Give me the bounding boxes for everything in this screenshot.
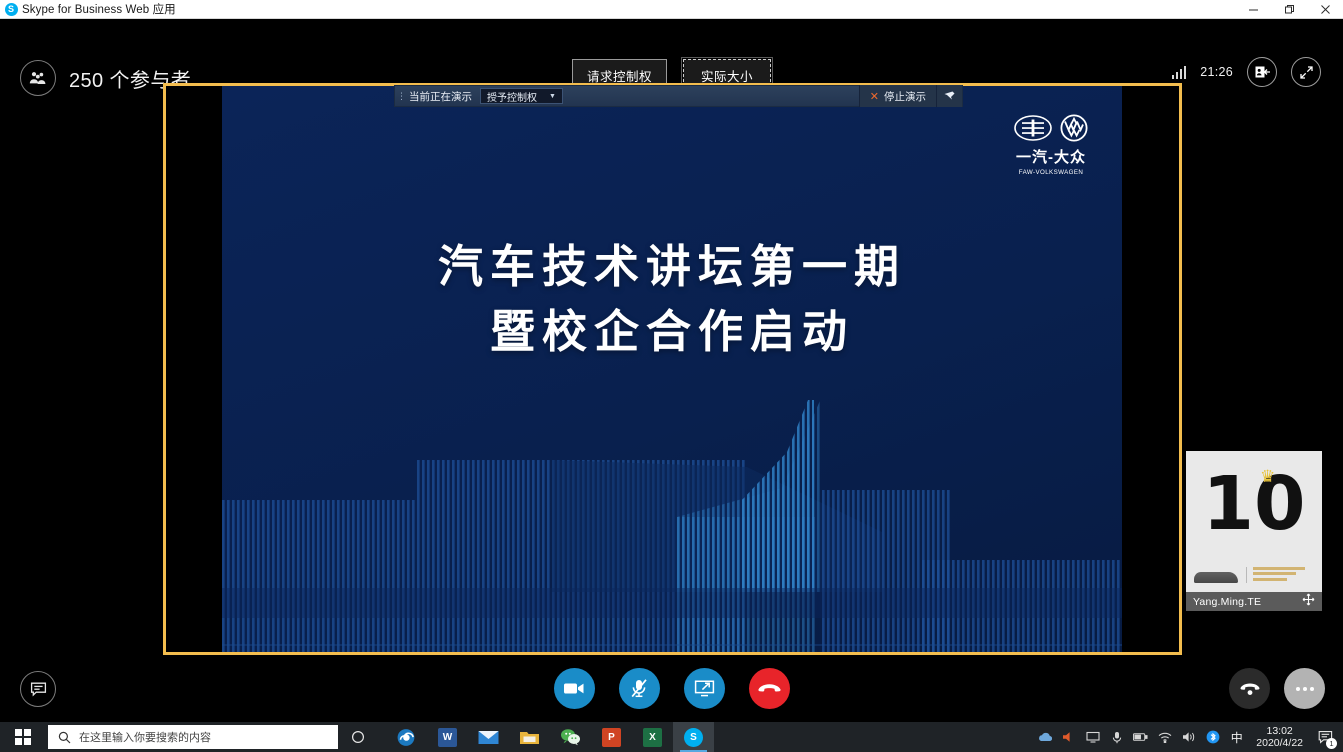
call-timer: 21:26 bbox=[1200, 65, 1233, 79]
app-cloud[interactable] bbox=[386, 722, 427, 752]
more-options-icon[interactable] bbox=[1284, 668, 1325, 709]
taskbar-clock[interactable]: 13:02 2020/4/22 bbox=[1256, 725, 1303, 749]
display-icon[interactable] bbox=[1085, 730, 1100, 745]
battery-icon[interactable] bbox=[1133, 730, 1148, 745]
notifications-icon[interactable]: 1 bbox=[1315, 727, 1335, 747]
windows-start-icon[interactable] bbox=[0, 722, 46, 752]
powerpoint-app-icon: P bbox=[602, 728, 621, 747]
folder-app-icon bbox=[519, 729, 540, 746]
task-view-icon[interactable] bbox=[338, 722, 378, 752]
crown-icon: ♛ bbox=[1260, 467, 1275, 487]
screen: S Skype for Business Web 应用 bbox=[0, 0, 1343, 752]
system-tray: 中 13:02 2020/4/22 1 bbox=[1037, 725, 1343, 749]
window-controls bbox=[1235, 0, 1343, 19]
window-title: Skype for Business Web 应用 bbox=[22, 1, 176, 17]
drag-grip-icon[interactable]: ⋮ bbox=[395, 91, 407, 102]
slide-title: 汽车技术讲坛第一期 暨校企合作启动 bbox=[222, 234, 1122, 365]
app-excel[interactable]: X bbox=[632, 722, 673, 752]
clock-date: 2020/4/22 bbox=[1256, 737, 1303, 749]
self-video-thumbnail[interactable]: 10 ♛ Yang.Ming.TE bbox=[1186, 451, 1322, 611]
cloud-app-icon bbox=[396, 728, 417, 747]
clock-time: 13:02 bbox=[1256, 725, 1303, 737]
microphone-muted-icon[interactable] bbox=[619, 668, 660, 709]
app-word[interactable]: W bbox=[427, 722, 468, 752]
ime-indicator[interactable]: 中 bbox=[1229, 730, 1244, 745]
car-silhouette-icon bbox=[1194, 572, 1238, 583]
thumbnail-footer-art bbox=[1194, 567, 1314, 584]
header-right-controls: 21:26 bbox=[1172, 57, 1321, 87]
thumbnail-image: 10 ♛ bbox=[1186, 451, 1322, 611]
faw-volkswagen-logo: 一汽-大众 FAW-VOLKSWAGEN bbox=[1008, 114, 1094, 176]
call-controls bbox=[0, 668, 1343, 709]
taskbar-apps: W bbox=[386, 722, 714, 752]
excel-app-icon: X bbox=[643, 728, 662, 747]
search-placeholder: 在这里输入你要搜索的内容 bbox=[79, 729, 211, 745]
ten-number-graphic: 10 bbox=[1186, 467, 1322, 541]
windows-taskbar: 在这里输入你要搜索的内容 W bbox=[0, 722, 1343, 752]
microphone-icon[interactable] bbox=[1109, 730, 1124, 745]
stop-presenting-button[interactable]: ✕ 停止演示 bbox=[859, 85, 936, 107]
wifi-icon[interactable] bbox=[1157, 730, 1172, 745]
hangup-phone-icon[interactable] bbox=[749, 668, 790, 709]
share-screen-icon[interactable] bbox=[684, 668, 725, 709]
bluetooth-icon[interactable] bbox=[1205, 730, 1220, 745]
restore-button[interactable] bbox=[1271, 0, 1307, 19]
onedrive-icon[interactable] bbox=[1037, 730, 1052, 745]
give-control-label: 授予控制权 bbox=[487, 89, 537, 104]
app-wechat[interactable] bbox=[550, 722, 591, 752]
mail-app-icon bbox=[478, 730, 499, 745]
presentation-toolbar: ⋮ 当前正在演示 授予控制权 ▼ ✕ 停止演示 bbox=[394, 85, 963, 107]
meeting-header: 250 个参与者 请求控制权 实际大小 21:26 bbox=[0, 19, 1343, 81]
vw-emblem-icon bbox=[1060, 114, 1088, 142]
speaker-icon[interactable] bbox=[1061, 730, 1076, 745]
logo-chinese-name: 一汽-大众 bbox=[1008, 146, 1094, 167]
stop-presenting-label: 停止演示 bbox=[884, 89, 926, 104]
striped-bar-graphic bbox=[222, 392, 1122, 652]
participant-name: Yang.Ming.TE bbox=[1193, 596, 1261, 608]
word-app-icon: W bbox=[438, 728, 457, 747]
slide-title-line2: 暨校企合作启动 bbox=[222, 299, 1122, 364]
minimize-button[interactable] bbox=[1235, 0, 1271, 19]
thumbnail-text-lines bbox=[1246, 567, 1314, 584]
person-exit-icon[interactable] bbox=[1247, 57, 1277, 87]
move-arrows-icon[interactable] bbox=[1302, 593, 1315, 611]
thumbnail-name-bar: Yang.Ming.TE bbox=[1186, 592, 1322, 611]
expand-arrows-icon[interactable] bbox=[1291, 57, 1321, 87]
skype-icon: S bbox=[0, 0, 22, 19]
window-titlebar: S Skype for Business Web 应用 bbox=[0, 0, 1343, 19]
app-skype[interactable]: S bbox=[673, 722, 714, 752]
close-x-icon: ✕ bbox=[870, 90, 879, 103]
search-icon bbox=[58, 731, 71, 744]
video-camera-icon[interactable] bbox=[554, 668, 595, 709]
notification-badge: 1 bbox=[1326, 738, 1337, 749]
app-powerpoint[interactable]: P bbox=[591, 722, 632, 752]
faw-emblem-icon bbox=[1014, 115, 1052, 141]
search-input[interactable]: 在这里输入你要搜索的内容 bbox=[48, 725, 338, 749]
volume-icon[interactable] bbox=[1181, 730, 1196, 745]
slide-title-line1: 汽车技术讲坛第一期 bbox=[438, 240, 906, 293]
chevron-down-icon: ▼ bbox=[549, 93, 556, 100]
logo-english-name: FAW-VOLKSWAGEN bbox=[1008, 169, 1094, 176]
presentation-slide: 一汽-大众 FAW-VOLKSWAGEN 汽车技术讲坛第一期 暨校企合作启动 bbox=[222, 86, 1122, 652]
skype-app-icon: S bbox=[684, 728, 703, 747]
app-mail[interactable] bbox=[468, 722, 509, 752]
bottom-right-controls bbox=[1229, 668, 1325, 709]
shared-content-stage: 一汽-大众 FAW-VOLKSWAGEN 汽车技术讲坛第一期 暨校企合作启动 ⋮… bbox=[163, 83, 1182, 655]
wechat-app-icon bbox=[560, 728, 581, 746]
app-file-explorer[interactable] bbox=[509, 722, 550, 752]
presenting-status-label: 当前正在演示 bbox=[407, 89, 480, 104]
give-control-dropdown[interactable]: 授予控制权 ▼ bbox=[480, 88, 563, 104]
pin-arrow-icon[interactable] bbox=[936, 85, 962, 107]
close-button[interactable] bbox=[1307, 0, 1343, 19]
signal-bars-icon bbox=[1172, 66, 1187, 79]
phone-icon[interactable] bbox=[1229, 668, 1270, 709]
